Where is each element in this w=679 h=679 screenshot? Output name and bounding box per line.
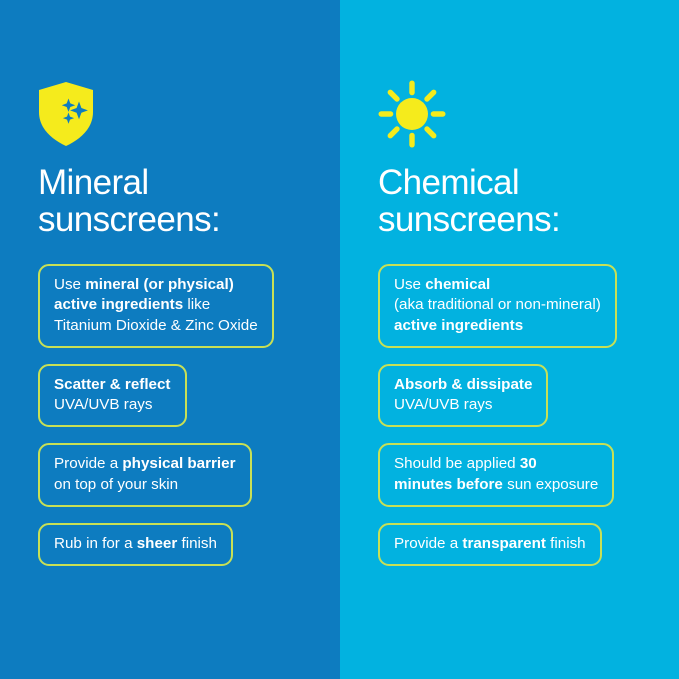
fact-text-emphasis: active ingredients: [394, 317, 523, 334]
fact-text-emphasis: sheer: [137, 535, 178, 552]
fact-text: Should be applied: [394, 455, 520, 472]
fact-card: Should be applied 30minutes before sun e…: [378, 443, 614, 506]
fact-card: Use chemical(aka traditional or non-mine…: [378, 264, 617, 348]
fact-card-line: UVA/UVB rays: [394, 395, 532, 415]
fact-card-line: Provide a transparent finish: [394, 534, 586, 554]
card-list-chemical: Use chemical(aka traditional or non-mine…: [378, 264, 679, 566]
fact-text-emphasis: Scatter & reflect: [54, 376, 171, 393]
fact-card-line: Rub in for a sheer finish: [54, 534, 217, 554]
fact-text-emphasis: mineral (or physical): [85, 276, 234, 293]
fact-text-emphasis: Absorb & dissipate: [394, 376, 532, 393]
fact-text: Provide a: [394, 535, 462, 552]
fact-card: Provide a transparent finish: [378, 523, 602, 566]
fact-text-emphasis: transparent: [462, 535, 546, 552]
fact-card-line: (aka traditional or non-mineral): [394, 295, 601, 315]
fact-card-line: Titanium Dioxide & Zinc Oxide: [54, 316, 258, 336]
fact-card-line: on top of your skin: [54, 475, 236, 495]
panel-chemical: Chemical sunscreens: Use chemical(aka tr…: [340, 0, 679, 679]
fact-card-line: Provide a physical barrier: [54, 454, 236, 474]
fact-text: UVA/UVB rays: [54, 396, 152, 413]
fact-text: Rub in for a: [54, 535, 137, 552]
page-title-mineral: Mineral sunscreens:: [38, 164, 340, 238]
fact-text-emphasis: 30: [520, 455, 537, 472]
sunscreen-comparison-infographic: Mineral sunscreens: Use mineral (or phys…: [0, 0, 679, 679]
fact-card-line: Use mineral (or physical): [54, 275, 258, 295]
fact-card-line: Should be applied 30: [394, 454, 598, 474]
sun-icon: [378, 78, 679, 150]
fact-card: Use mineral (or physical)active ingredie…: [38, 264, 274, 348]
shield-sparkle-icon: [38, 78, 340, 150]
fact-text: sun exposure: [503, 476, 598, 493]
fact-text: finish: [546, 535, 586, 552]
fact-card-line: Use chemical: [394, 275, 601, 295]
fact-card: Absorb & dissipateUVA/UVB rays: [378, 364, 548, 427]
fact-text: like: [183, 296, 210, 313]
fact-text: Provide a: [54, 455, 122, 472]
fact-text: finish: [177, 535, 217, 552]
fact-text: on top of your skin: [54, 476, 178, 493]
fact-card-line: active ingredients like: [54, 295, 258, 315]
fact-card-line: UVA/UVB rays: [54, 395, 171, 415]
fact-text: Use: [54, 276, 85, 293]
fact-text: (aka traditional or non-mineral): [394, 296, 601, 313]
fact-card: Scatter & reflectUVA/UVB rays: [38, 364, 187, 427]
fact-text-emphasis: minutes before: [394, 476, 503, 493]
page-title-chemical: Chemical sunscreens:: [378, 164, 679, 238]
fact-card-line: Absorb & dissipate: [394, 375, 532, 395]
fact-card-line: active ingredients: [394, 316, 601, 336]
card-list-mineral: Use mineral (or physical)active ingredie…: [38, 264, 340, 566]
fact-text: UVA/UVB rays: [394, 396, 492, 413]
panel-mineral: Mineral sunscreens: Use mineral (or phys…: [0, 0, 340, 679]
fact-card-line: minutes before sun exposure: [394, 475, 598, 495]
fact-text-emphasis: active ingredients: [54, 296, 183, 313]
fact-card: Rub in for a sheer finish: [38, 523, 233, 566]
fact-text-emphasis: chemical: [425, 276, 490, 293]
fact-text-emphasis: physical barrier: [122, 455, 235, 472]
fact-text: Use: [394, 276, 425, 293]
fact-card-line: Scatter & reflect: [54, 375, 171, 395]
fact-card: Provide a physical barrieron top of your…: [38, 443, 252, 506]
fact-text: Titanium Dioxide & Zinc Oxide: [54, 317, 258, 334]
